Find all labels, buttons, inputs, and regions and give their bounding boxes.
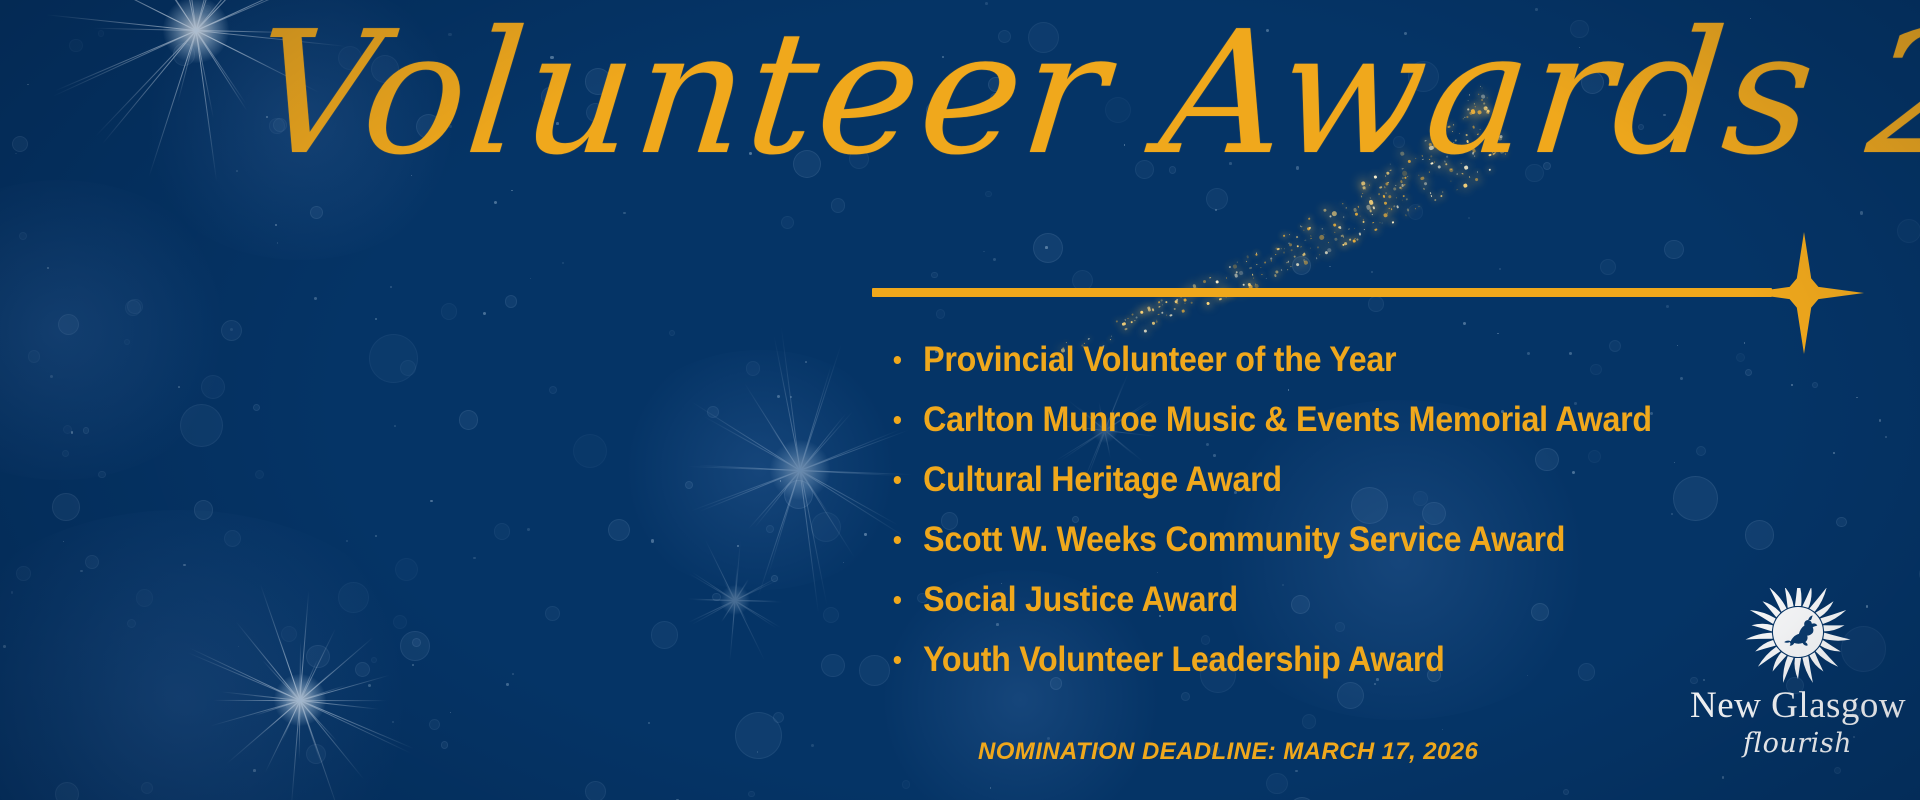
awards-list: Provincial Volunteer of the Year Carlton… <box>890 330 1820 690</box>
list-item: Social Justice Award <box>890 570 1746 630</box>
new-glasgow-logo: New Glasgow flourish <box>1690 588 1905 778</box>
award-label: Provincial Volunteer of the Year <box>923 340 1396 379</box>
logo-wordmark: New Glasgow <box>1690 684 1905 728</box>
gold-divider-rule <box>872 288 1772 297</box>
star-sparkle-icon <box>170 570 430 800</box>
list-item: Scott W. Weeks Community Service Award <box>890 510 1746 570</box>
award-label: Social Justice Award <box>923 580 1238 619</box>
bullet-icon <box>894 356 901 364</box>
award-label: Scott W. Weeks Community Service Award <box>923 520 1565 559</box>
logo-tagline: flourish <box>1690 728 1905 760</box>
bullet-icon <box>894 536 901 544</box>
nomination-deadline-text: NOMINATION DEADLINE: MARCH 17, 2026 <box>978 738 1478 766</box>
volunteer-awards-banner: Volunteer Awards 2026 Provincial Volunte… <box>0 0 1920 800</box>
award-label: Cultural Heritage Award <box>923 460 1282 499</box>
bullet-icon <box>894 476 901 484</box>
list-item: Provincial Volunteer of the Year <box>890 330 1746 390</box>
list-item: Carlton Munroe Music & Events Memorial A… <box>890 390 1746 450</box>
list-item: Cultural Heritage Award <box>890 450 1746 510</box>
award-label: Youth Volunteer Leadership Award <box>923 640 1444 679</box>
star-sparkle-icon <box>660 525 810 675</box>
list-item: Youth Volunteer Leadership Award <box>890 630 1746 690</box>
bullet-icon <box>894 596 901 604</box>
page-title: Volunteer Awards 2026 <box>244 0 1686 204</box>
award-label: Carlton Munroe Music & Events Memorial A… <box>923 400 1652 439</box>
bullet-icon <box>894 656 901 664</box>
sun-lion-crest-icon <box>1690 588 1905 684</box>
bullet-icon <box>894 416 901 424</box>
